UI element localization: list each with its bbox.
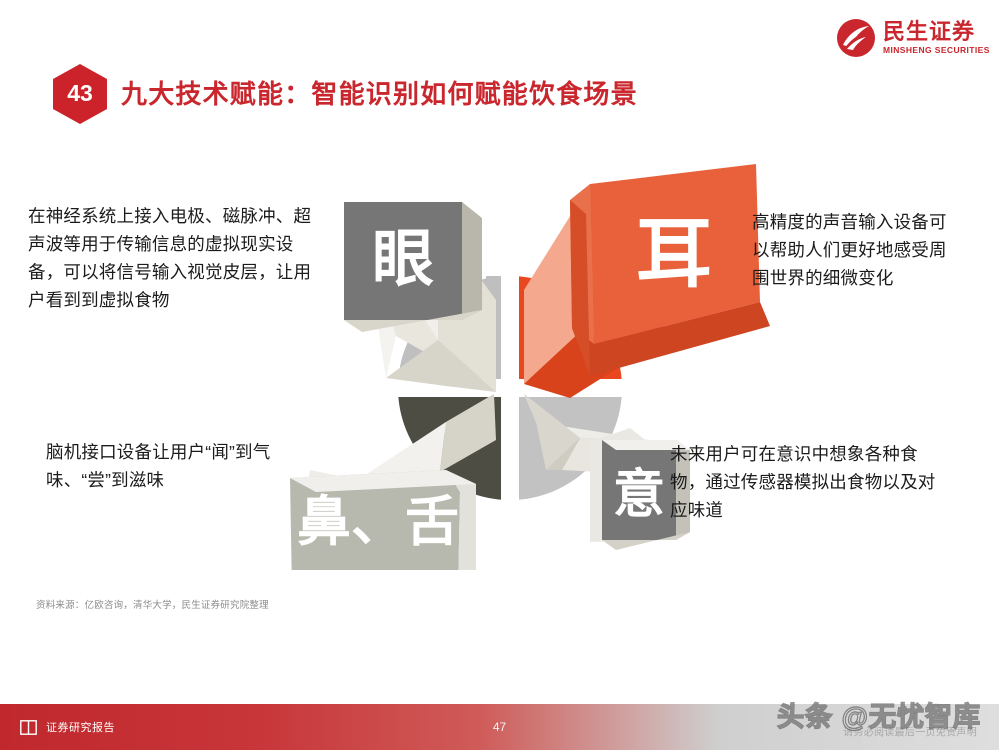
logo-text-en: MINSHENG SECURITIES: [883, 45, 990, 56]
slide-number-badge: 43: [49, 63, 111, 125]
block-nose-label: 鼻、舌: [297, 492, 459, 552]
logo-text-cn: 民生证券: [883, 21, 990, 43]
callout-ear: 高精度的声音输入设备可以帮助人们更好地感受周围世界的细微变化: [752, 208, 962, 292]
block-mind-label: 意: [613, 466, 665, 524]
block-eye-label: 眼: [372, 225, 434, 294]
slide-canvas: 民生证券 MINSHENG SECURITIES 43 九大技术赋能：智能识别如…: [0, 0, 999, 750]
company-logo: 民生证券 MINSHENG SECURITIES: [836, 18, 990, 58]
callout-mind: 未来用户可在意识中想象各种食物，通过传感器模拟出食物以及对应味道: [670, 440, 938, 524]
callout-eye: 在神经系统上接入电极、磁脉冲、超声波等用于传输信息的虚拟现实设备，可以将信号输入…: [28, 202, 328, 314]
minsheng-logo-icon: [836, 18, 876, 58]
block-ear-label: 耳: [636, 212, 712, 297]
source-note: 资料来源：亿欧咨询，清华大学，民生证券研究院整理: [36, 597, 269, 611]
callout-nose: 脑机接口设备让用户“闻”到气味、“尝”到滋味: [46, 438, 336, 494]
block-eye[interactable]: 眼: [344, 202, 482, 332]
slide-number: 43: [49, 63, 111, 125]
footer-disclaimer: 请务必阅读最后一页免责声明: [843, 723, 977, 738]
slide-footer: 证券研究报告 47 请务必阅读最后一页免责声明: [0, 704, 999, 750]
block-ear[interactable]: 耳: [570, 164, 770, 376]
page-title: 九大技术赋能：智能识别如何赋能饮食场景: [121, 74, 638, 111]
